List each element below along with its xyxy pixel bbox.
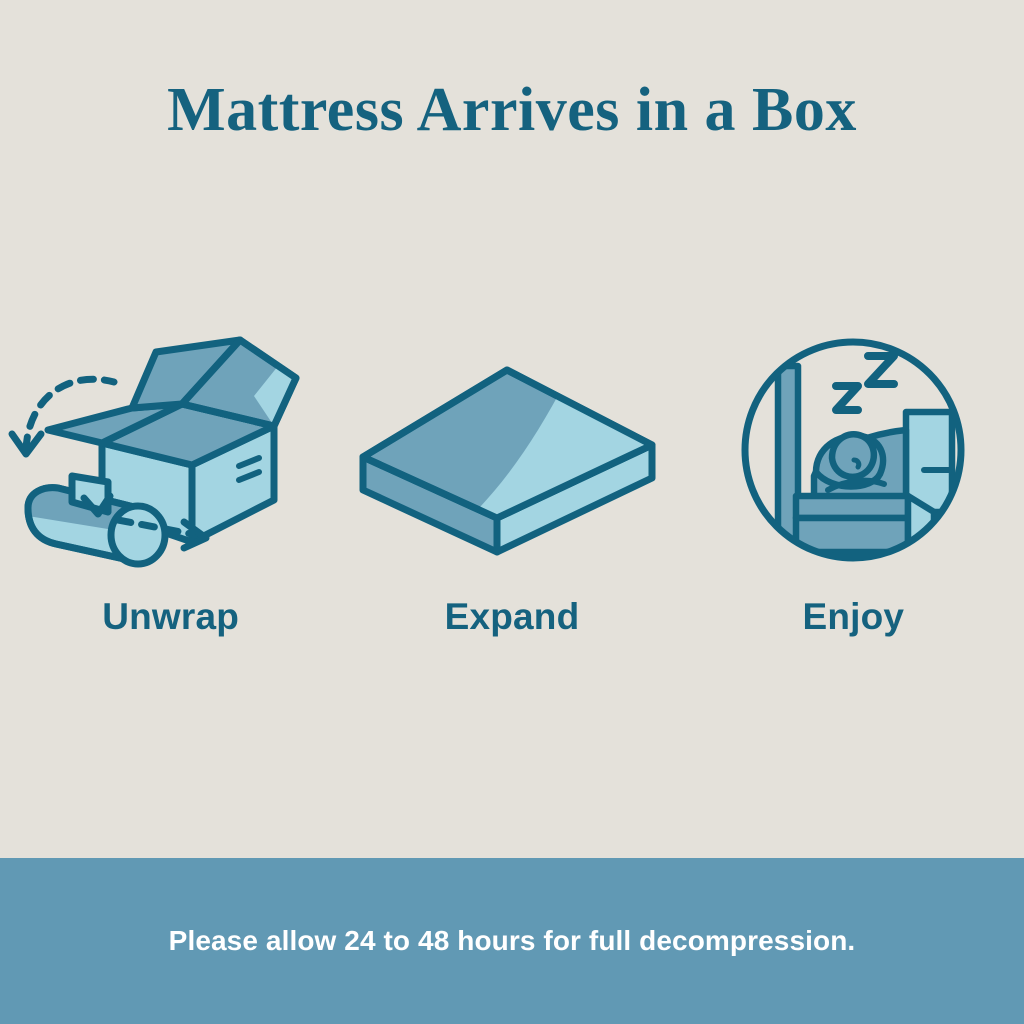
- infographic-poster: Mattress Arrives in a Box: [0, 0, 1024, 1024]
- step-label-unwrap: Unwrap: [102, 596, 239, 638]
- mattress-layer-top: [796, 496, 908, 518]
- box-with-rolled-mattress-icon: [6, 330, 336, 580]
- sleeper-head: [832, 434, 874, 477]
- person-sleeping-in-bed-icon: [728, 330, 978, 580]
- steps-row: Unwrap: [0, 330, 1024, 690]
- step-expand: Expand: [341, 330, 682, 638]
- decompression-banner: Please allow 24 to 48 hours for full dec…: [0, 858, 1024, 1024]
- enjoy-illustration: [728, 330, 978, 580]
- z-large-icon: [868, 356, 894, 384]
- decompression-note: Please allow 24 to 48 hours for full dec…: [0, 858, 1024, 1024]
- unwrap-illustration: [6, 330, 336, 580]
- step-label-expand: Expand: [445, 596, 580, 638]
- roll-end-cap: [111, 506, 165, 564]
- z-small-icon: [836, 386, 858, 410]
- step-unwrap: Unwrap: [0, 330, 341, 638]
- page-title: Mattress Arrives in a Box: [0, 78, 1024, 143]
- step-label-enjoy: Enjoy: [802, 596, 904, 638]
- flat-mattress-slab-icon: [347, 330, 677, 580]
- step-enjoy: Enjoy: [683, 330, 1024, 638]
- expand-illustration: [347, 330, 677, 580]
